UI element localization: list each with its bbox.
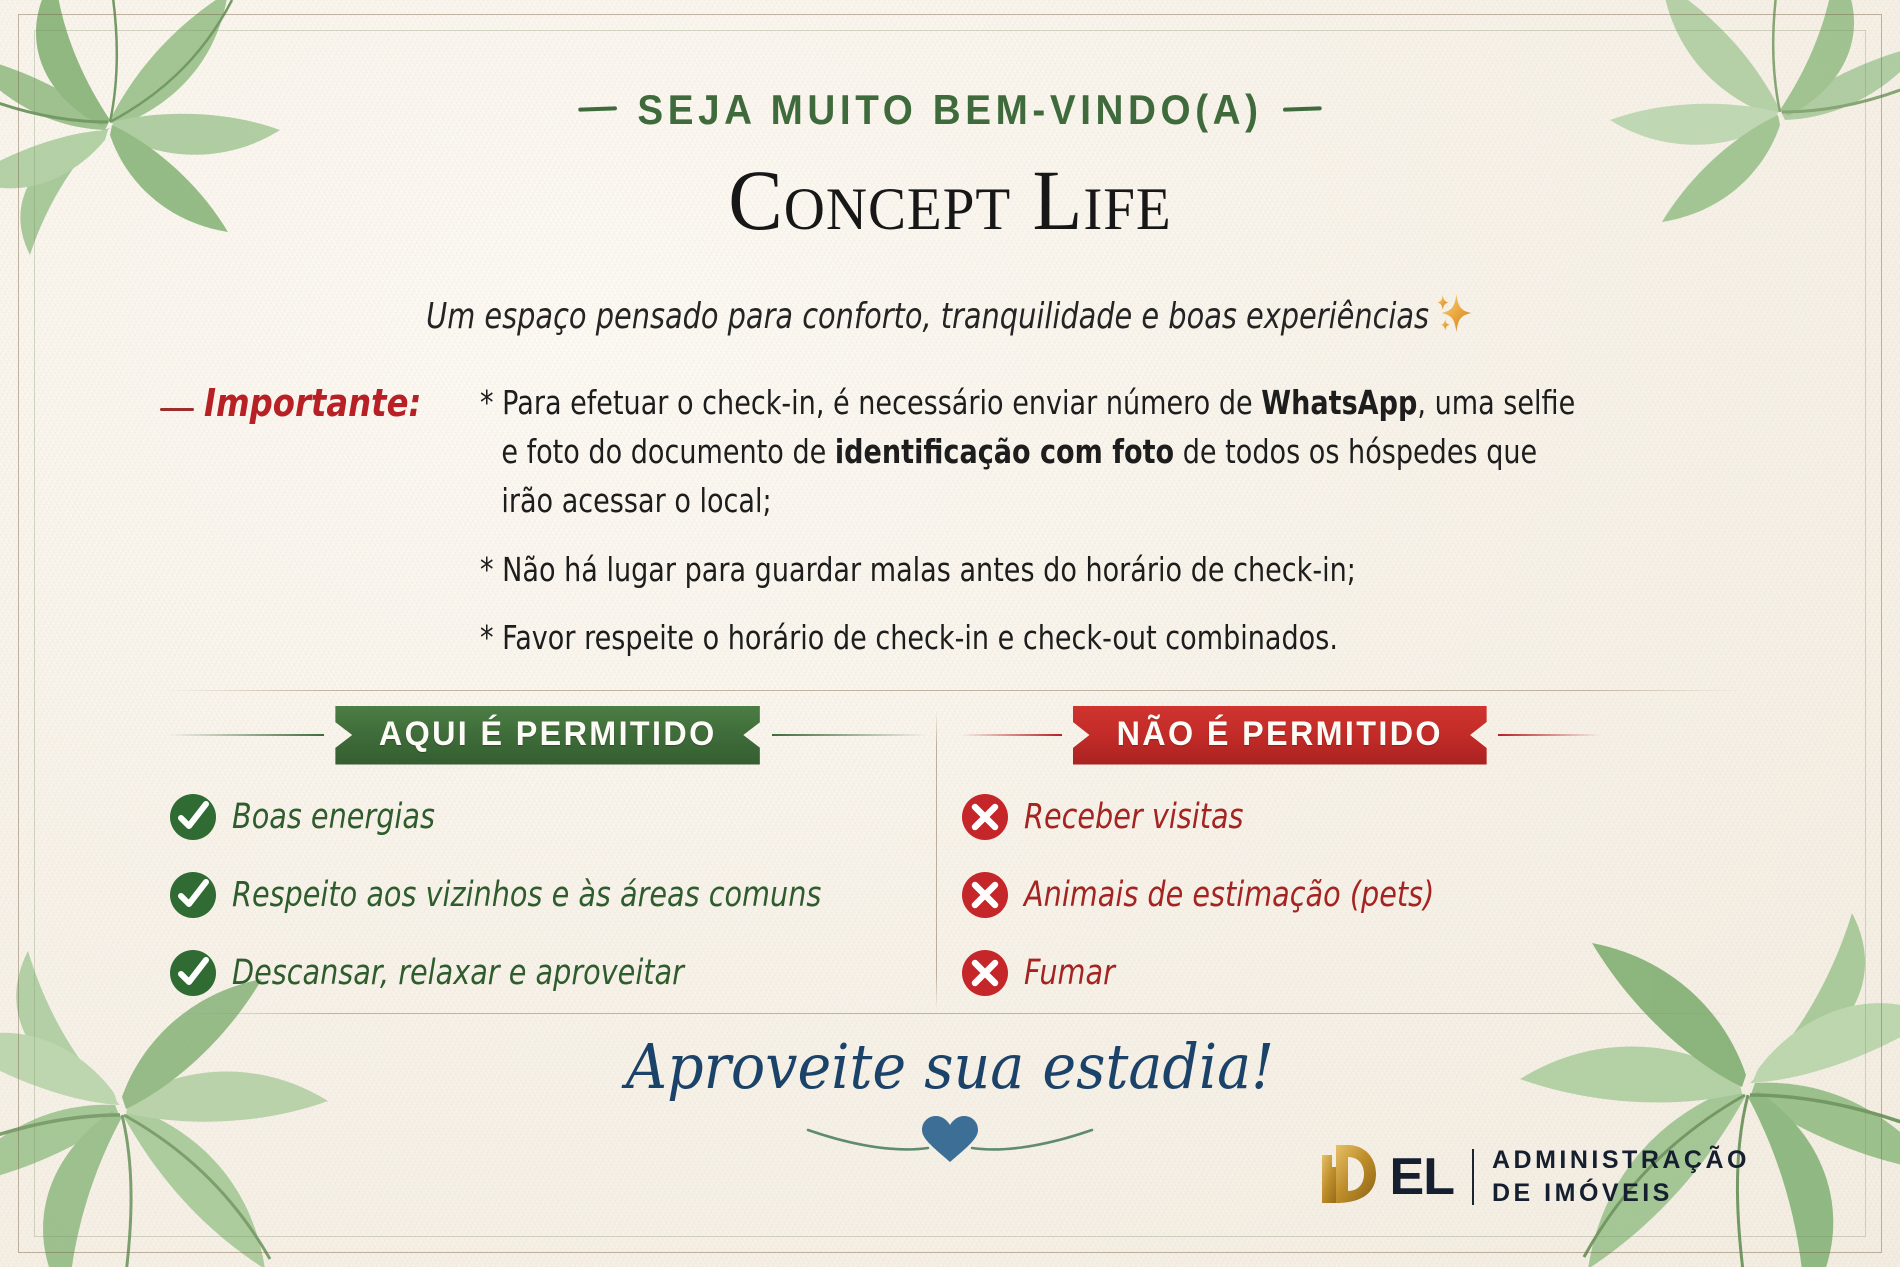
not-allowed-banner-row: NÃO É PERMITIDO [960,700,1600,770]
not-allowed-list: Receber visitas Animais de estimação (pe… [960,792,1600,998]
not-allowed-item-label: Receber visitas [1024,797,1244,837]
x-circle-icon [960,792,1010,842]
page-subtitle: Um espaço pensado para conforto, tranqui… [190,288,1710,343]
poster-content: SEJA MUITO BEM-VINDO(A) Concept Life Um … [0,0,1900,1267]
allowed-item-label: Respeito aos vizinhos e às áreas comuns [232,875,821,915]
not-allowed-banner-line-left [960,734,1062,736]
allowed-item-label: Descansar, relaxar e aproveitar [232,953,684,993]
list-item: Fumar [960,948,1600,998]
important-line-1: * Para efetuar o check-in, é necessário … [480,380,1575,427]
closing-message: Aproveite sua estadia! [76,1030,1824,1103]
important-line-2: e foto do documento de identificação com… [480,429,1575,476]
list-item: Respeito aos vizinhos e às áreas comuns [168,870,928,920]
heart-icon [922,1116,978,1162]
page-title: Concept Life [48,150,1853,250]
logo-wordmark: EL [1390,1147,1454,1207]
welcome-kicker: SEJA MUITO BEM-VINDO(A) [76,86,1824,134]
list-item: Boas energias [168,792,928,842]
allowed-banner-row: AQUI É PERMITIDO [168,700,928,770]
list-item: Receber visitas [960,792,1600,842]
check-circle-icon [168,948,218,998]
brand-logo: EL ADMINISTRAÇÃO DE IMÓVEIS [1318,1141,1750,1212]
logo-tagline-line-1: ADMINISTRAÇÃO [1492,1146,1750,1174]
important-line-4: * Não há lugar para guardar malas antes … [480,547,1575,594]
poster-page: SEJA MUITO BEM-VINDO(A) Concept Life Um … [0,0,1900,1267]
allowed-item-label: Boas energias [232,797,435,837]
not-allowed-item-label: Fumar [1024,953,1115,993]
check-circle-icon [168,870,218,920]
important-label: Importante: [204,380,421,426]
subtitle-text: Um espaço pensado para conforto, tranqui… [426,296,1429,337]
list-item: Animais de estimação (pets) [960,870,1600,920]
x-circle-icon [960,870,1010,920]
kicker-dash-right [1283,106,1322,111]
important-section: Importante: * Para efetuar o check-in, é… [160,380,1750,664]
check-circle-icon [168,792,218,842]
del-building-icon [1318,1141,1390,1212]
x-circle-icon [960,948,1010,998]
kicker-dash-left [578,106,617,111]
logo-tagline: ADMINISTRAÇÃO DE IMÓVEIS [1492,1144,1750,1209]
kicker-text: SEJA MUITO BEM-VINDO(A) [637,86,1262,133]
not-allowed-column: NÃO É PERMITIDO Receber visitas [960,700,1600,1026]
important-dash [160,408,194,411]
divider-vertical [936,710,937,1010]
list-item: Descansar, relaxar e aproveitar [168,948,928,998]
important-lines: * Para efetuar o check-in, é necessário … [480,380,1816,664]
logo-divider [1472,1149,1474,1205]
important-line-3: irão acessar o local; [480,478,1575,525]
allowed-banner: AQUI É PERMITIDO [335,706,760,765]
not-allowed-banner: NÃO É PERMITIDO [1073,706,1487,765]
allowed-column: AQUI É PERMITIDO Boas energias [168,700,928,1026]
not-allowed-item-label: Animais de estimação (pets) [1024,875,1434,915]
important-line-5: * Favor respeite o horário de check-in e… [480,615,1575,662]
not-allowed-banner-line-right [1498,734,1600,736]
divider-top [165,690,1740,691]
sparkles-icon [1432,288,1474,343]
allowed-banner-line-right [772,734,928,736]
allowed-list: Boas energias Respeito aos vizinhos e às… [168,792,928,998]
allowed-banner-line-left [168,734,324,736]
logo-tagline-line-2: DE IMÓVEIS [1492,1179,1673,1207]
